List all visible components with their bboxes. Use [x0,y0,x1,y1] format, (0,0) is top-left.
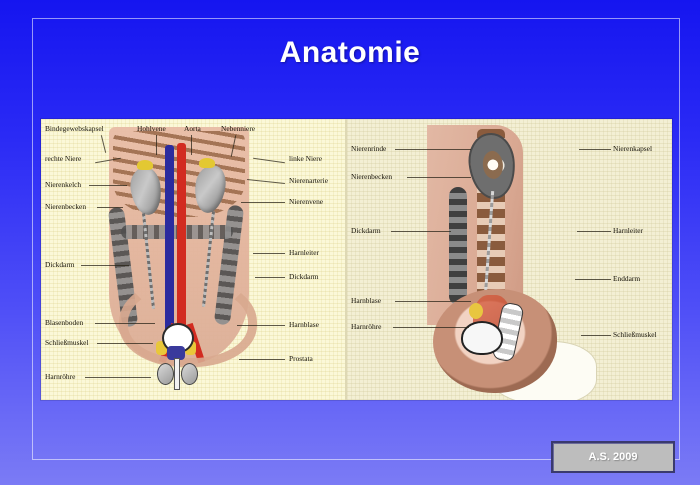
leader-nierenkelch [89,185,127,186]
label-nierenbecken: Nierenbecken [45,203,86,210]
label-harnleiter-sagittal: Harnleiter [613,227,643,234]
leader-harnblase-left-panel [237,325,285,326]
label-harnblase-sagittal: Harnblase [351,297,381,304]
leader-dickdarm-sagittal [391,231,451,232]
fat-tissue-sagittal [469,303,483,319]
testis-right [181,363,198,385]
label-harnroehre-sagittal: Harnröhre [351,323,381,330]
label-harnleiter-left-panel: Harnleiter [289,249,319,256]
sagittal-illustration [425,125,595,395]
label-aorta: Aorta [184,125,201,132]
label-bindegewebskapsel: Bindegewebskapsel [45,125,104,132]
colon-sagittal [449,187,467,305]
leader-harnleiter-left-panel [253,253,285,254]
slide: Anatomie [0,0,700,485]
author-year-text: A.S. 2009 [589,451,638,463]
leader-aorta [191,135,192,155]
label-hohlvene: Hohlvene [137,125,166,132]
leader-harnroehre-left [85,377,151,378]
label-nebenniere: Nebenniere [221,125,255,132]
leader-nierenbecken-right-panel [407,177,471,178]
leader-harnroehre-sagittal [393,327,469,328]
leader-dickdarm-right [255,277,285,278]
leader-nierenrinde [395,149,471,150]
label-nierenvene: Nierenvene [289,198,323,205]
anatomy-panel-sagittal: Nierenrinde Nierenbecken Dickdarm Harnbl… [345,119,672,400]
leader-harnblase-sagittal [395,301,471,302]
label-harnroehre-left: Harnröhre [45,373,75,380]
label-harnblase-left-panel: Harnblase [289,321,319,328]
anatomy-figure: Bindegewebskapsel Hohlvene Aorta Nebenni… [41,119,672,400]
leader-schliessmuskel-left [97,343,153,344]
leader-nierenkapsel [579,149,611,150]
label-nierenarterie: Nierenarterie [289,177,328,184]
label-nierenrinde: Nierenrinde [351,145,386,152]
frontal-torso-illustration [103,127,255,395]
urethra [174,358,180,390]
leader-schliessmuskel-sagittal [581,335,611,336]
label-nierenbecken-right-panel: Nierenbecken [351,173,392,180]
label-blasenboden: Blasenboden [45,319,83,326]
leader-nierenvene [241,202,285,203]
label-nierenkapsel: Nierenkapsel [613,145,652,152]
leader-nierenbecken [97,207,123,208]
adrenal-gland-right [137,160,153,170]
leader-prostata [239,359,285,360]
label-prostata: Prostata [289,355,313,362]
leader-enddarm [575,279,611,280]
label-nierenkelch: Nierenkelch [45,181,81,188]
label-dickdarm-left: Dickdarm [45,261,75,268]
label-schliessmuskel-left: Schließmuskel [45,339,89,346]
label-schliessmuskel-sagittal: Schließmuskel [613,331,657,338]
page-title: Anatomie [0,36,700,70]
author-year-badge: A.S. 2009 [551,441,675,473]
leader-hohlvene [156,135,157,155]
label-enddarm: Enddarm [613,275,640,282]
leader-harnleiter-sagittal [577,231,611,232]
label-dickdarm-right: Dickdarm [289,273,319,280]
anatomy-panel-frontal: Bindegewebskapsel Hohlvene Aorta Nebenni… [41,119,345,400]
leader-blasenboden [95,323,155,324]
label-dickdarm-sagittal: Dickdarm [351,227,381,234]
leader-dickdarm-left [81,265,129,266]
label-rechte-niere: rechte Niere [45,155,81,162]
leader-linke-niere [253,158,285,163]
adrenal-gland-left [199,158,215,168]
label-linke-niere: linke Niere [289,155,322,162]
testis-left [157,363,174,385]
